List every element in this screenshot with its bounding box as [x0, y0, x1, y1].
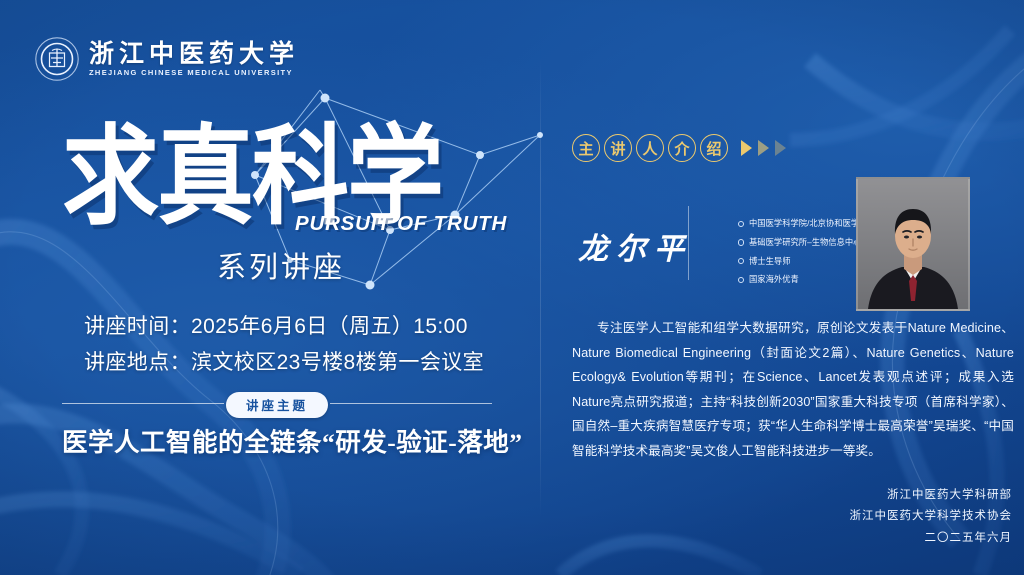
series-label: 系列讲座: [217, 244, 345, 286]
footer-line: 浙江中医药大学科学技术协会: [560, 506, 1012, 527]
footer-line: 浙江中医药大学科研部: [560, 485, 1012, 506]
lecture-topic: 医学人工智能的全链条“研发-验证-落地”: [62, 422, 502, 459]
topic-rule-left: [62, 403, 224, 404]
lecture-poster: 浙江中医药大学 ZHEJIANG CHINESE MEDICAL UNIVERS…: [0, 0, 1024, 575]
footer-line: 二〇二五年六月: [560, 528, 1012, 549]
speaker-bio: 专注医学人工智能和组学大数据研究，原创论文发表于Nature Medicine、…: [572, 316, 1014, 463]
speaker-section-heading: 主 讲 人 介 绍: [572, 134, 786, 162]
topic-rule-right: [330, 403, 492, 404]
lecture-time: 讲座时间：2025年6月6日（周五）15:00: [84, 310, 468, 340]
heading-char-4: 介: [668, 134, 696, 162]
speaker-name: 龙尔平: [578, 224, 692, 268]
topic-badge: 讲座主题: [226, 392, 328, 418]
left-panel: 求真科学 PURSUIT OF TRUTH 系列讲座 讲座时间：2025年6月6…: [0, 0, 540, 575]
lecture-place: 讲座地点：滨文校区23号楼8楼第一会议室: [84, 346, 484, 376]
heading-char-3: 人: [636, 134, 664, 162]
credentials-divider: [688, 206, 689, 280]
right-panel: 主 讲 人 介 绍 龙尔平 中国医学科学院/北京协和医学院研究员 基础医学研究所…: [560, 0, 1024, 575]
triangle-arrows-icon: [741, 140, 786, 156]
column-divider: [540, 58, 541, 518]
main-title-english: PURSUIT OF TRUTH: [295, 212, 507, 236]
heading-char-5: 绍: [700, 134, 728, 162]
heading-char-1: 主: [572, 134, 600, 162]
topic-badge-bar: 讲座主题: [62, 392, 492, 416]
heading-char-2: 讲: [604, 134, 632, 162]
poster-footer: 浙江中医药大学科研部 浙江中医药大学科学技术协会 二〇二五年六月: [560, 485, 1012, 549]
speaker-portrait-photo: [856, 177, 970, 311]
